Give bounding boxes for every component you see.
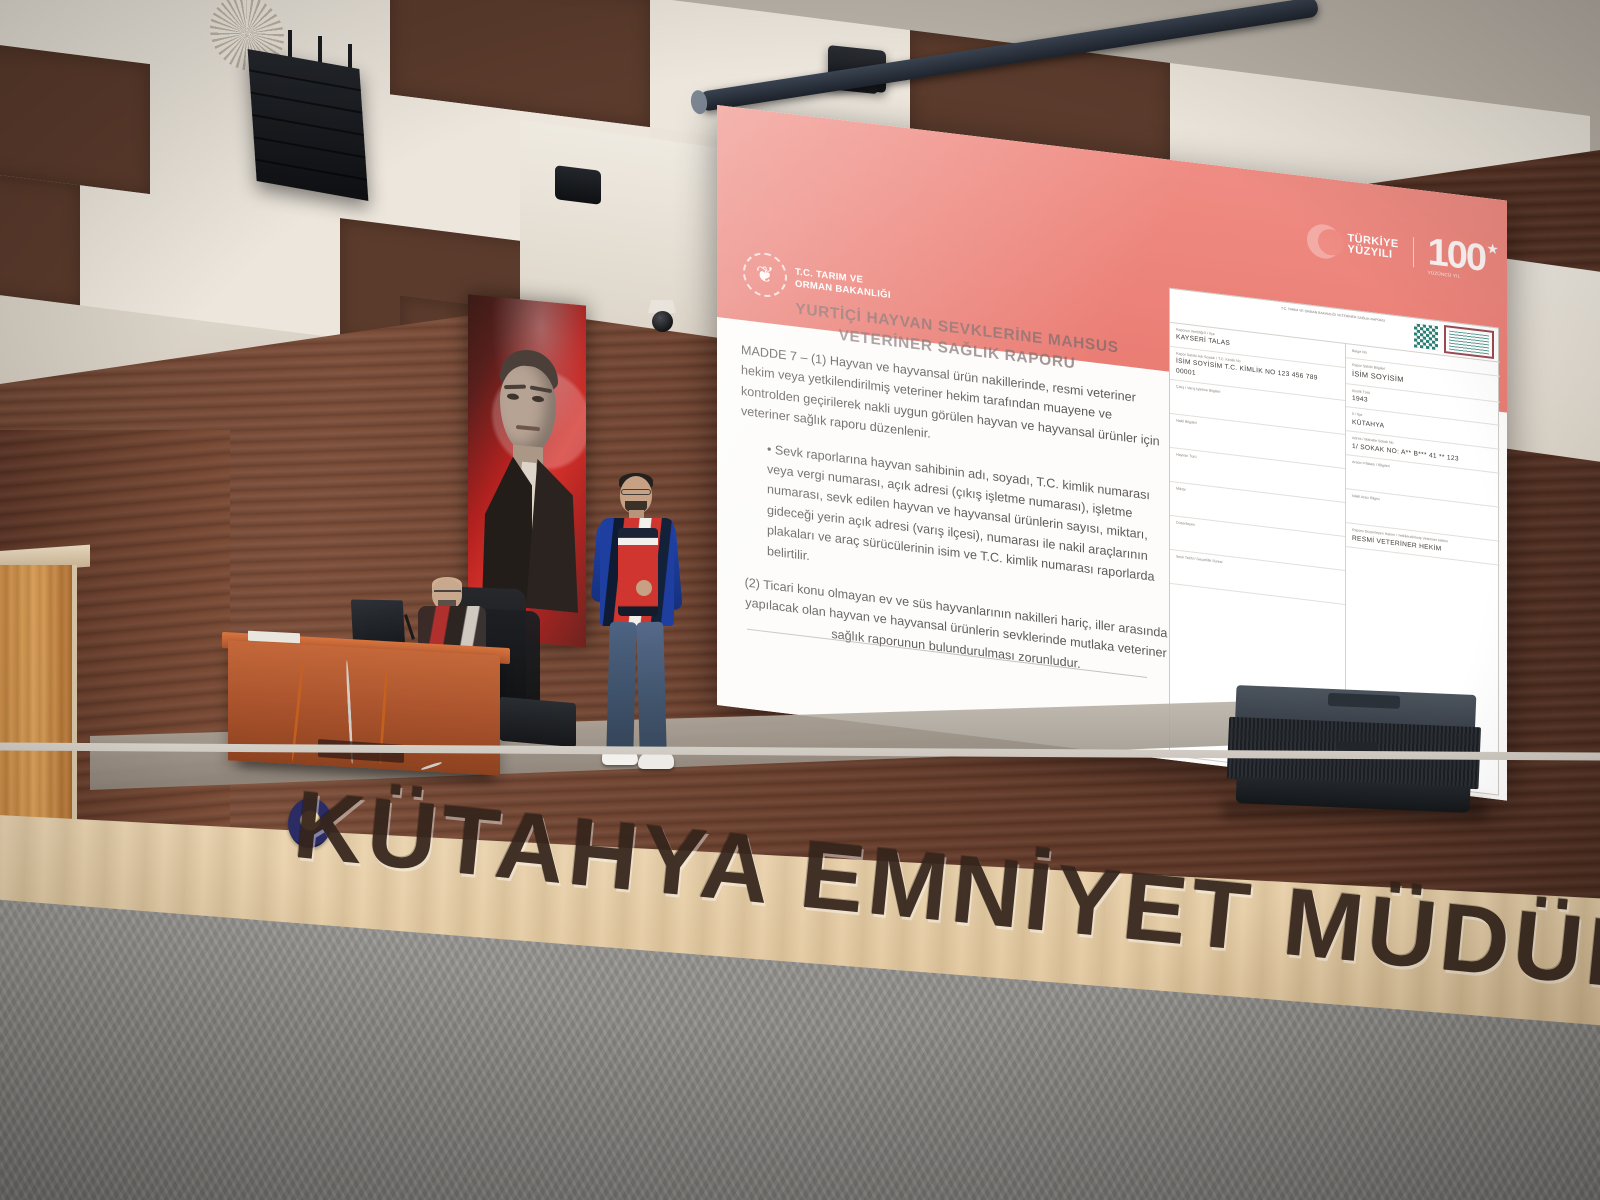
floor-monitor-speaker	[1226, 685, 1483, 813]
standing-presenter	[580, 476, 690, 776]
logo-divider	[1413, 237, 1414, 267]
dome-security-camera	[645, 300, 679, 334]
barcode-stamp	[1444, 325, 1494, 359]
stage-wedge-monitor	[500, 697, 576, 748]
ceiling-spotlight	[555, 165, 601, 205]
anniversary-100-logo: 100★ YÜZÜNCÜ YIL	[1428, 233, 1485, 283]
star-icon: ★	[1487, 242, 1496, 255]
hanging-line-array-speaker	[248, 49, 369, 201]
turkiye-yuzyili-logo: TÜRKİYE YÜZYILI	[1307, 223, 1399, 268]
slide-body: MADDE 7 – (1) Hayvan ve hayvansal ürün n…	[741, 340, 1171, 699]
qr-code	[1414, 323, 1438, 350]
conference-hall-photo: TÜRKİYE YÜZYILI 100★ YÜZÜNCÜ YIL ❦ T.C. …	[0, 0, 1600, 1200]
ministry-seal-icon: ❦	[743, 250, 787, 299]
header-logos: TÜRKİYE YÜZYILI 100★ YÜZÜNCÜ YIL	[1307, 218, 1486, 282]
crescent-star-icon	[1307, 223, 1341, 261]
